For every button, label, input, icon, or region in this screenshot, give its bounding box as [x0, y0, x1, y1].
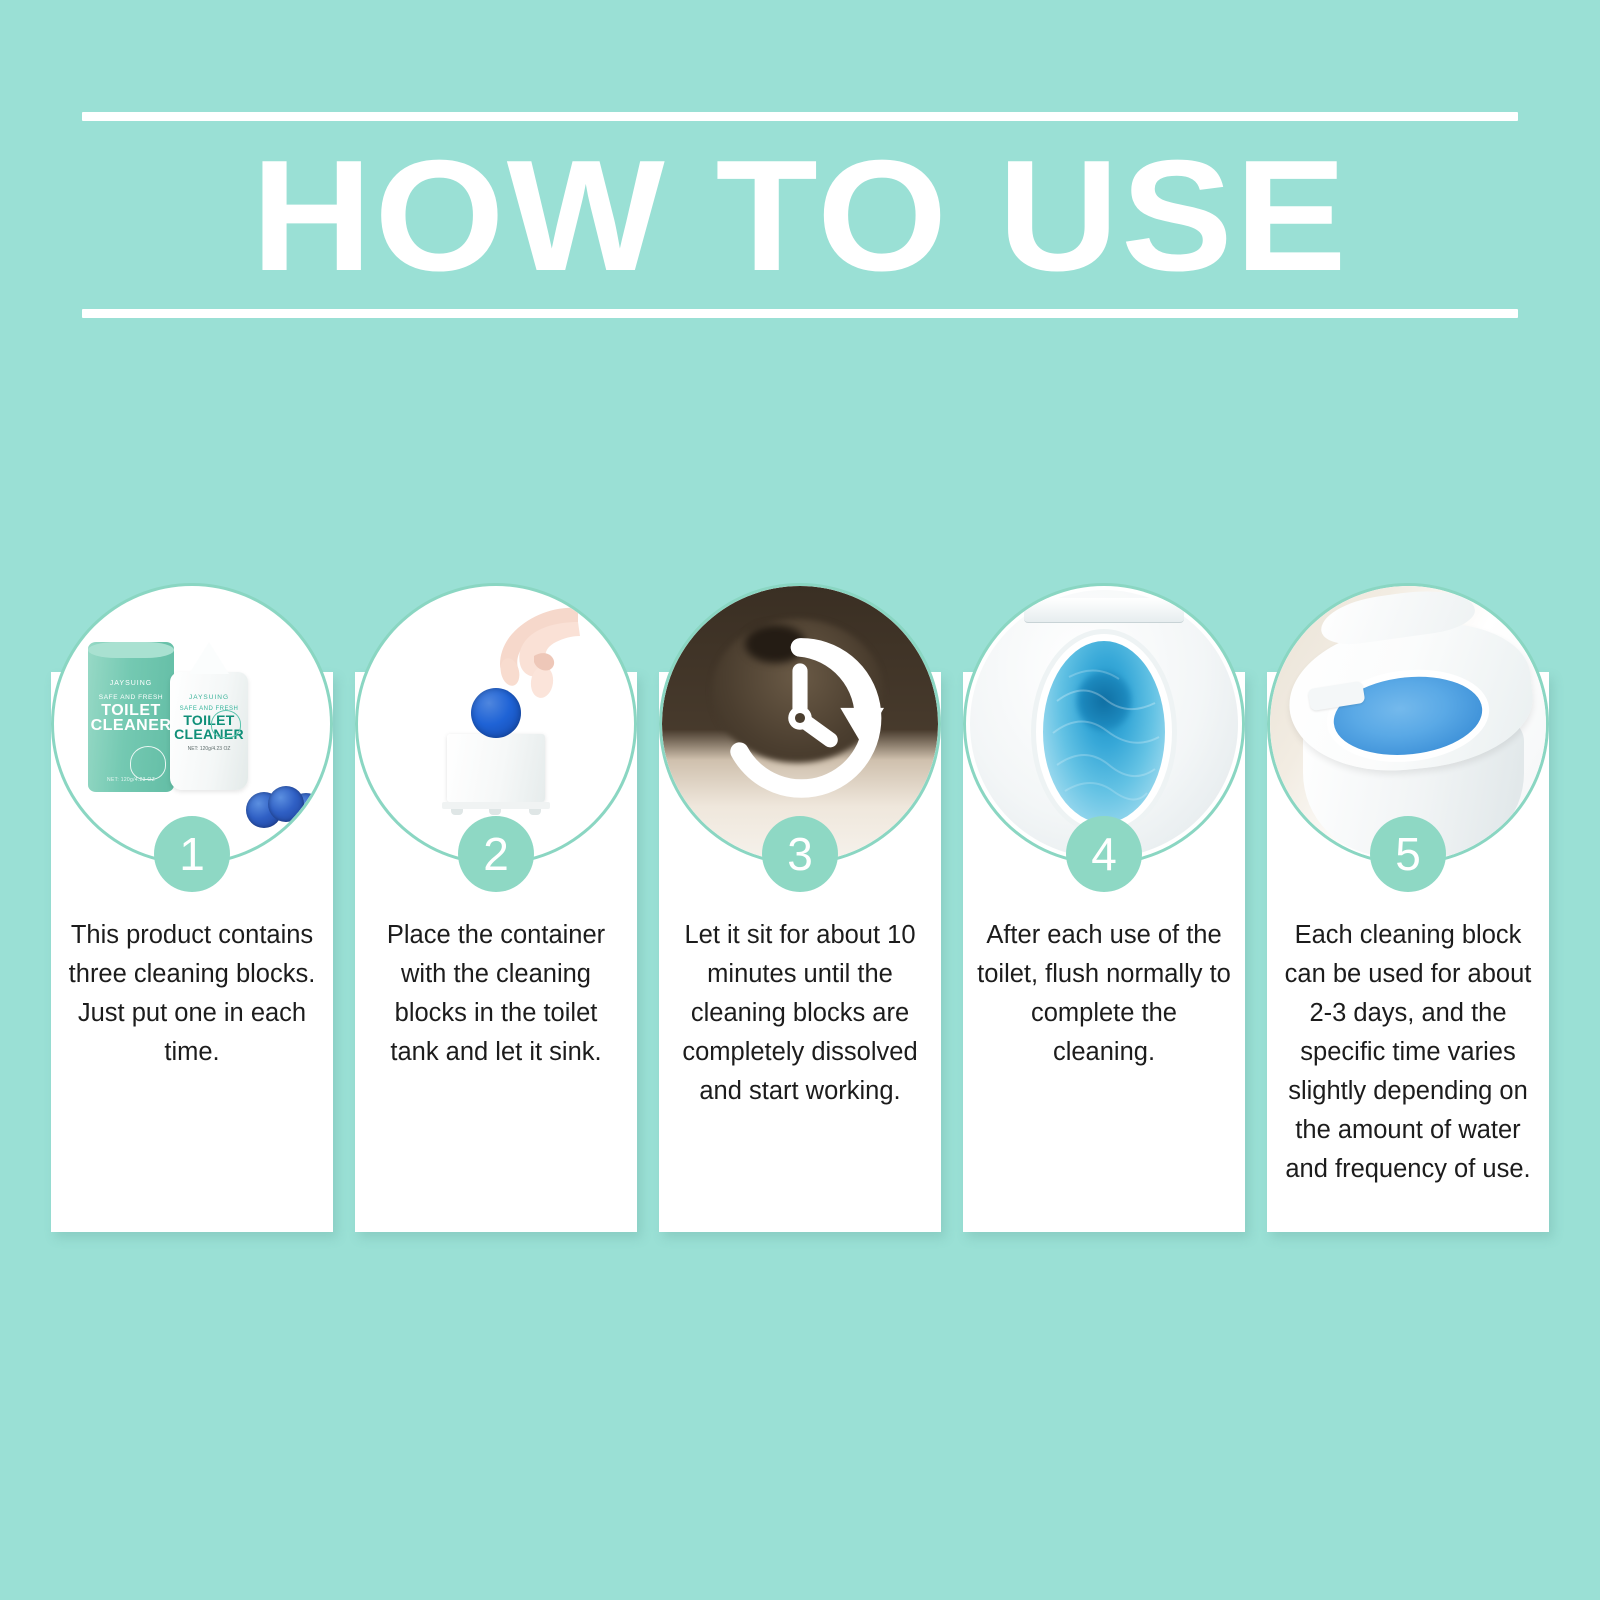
tube-toilet-illustration-icon — [130, 746, 166, 780]
container-feet — [445, 807, 547, 815]
step-card-1: JAYSUING SAFE AND FRESH TOILET CLEANER N… — [51, 586, 333, 1232]
step-number-badge-5: 5 — [1370, 816, 1446, 892]
bottle-toilet-illustration-icon — [211, 710, 241, 738]
step-caption-1: This product contains three cleaning blo… — [65, 916, 319, 1072]
step-card-2: 2 Place the container with the cleaning … — [355, 586, 637, 1232]
tube-tagline-text: SAFE AND FRESH — [88, 694, 174, 701]
step-card-3: 3 Let it sit for about 10 minutes until … — [659, 586, 941, 1232]
toilet-lid-edge — [1024, 598, 1185, 623]
hand-icon — [450, 604, 580, 724]
blue-cleaning-blocks — [246, 784, 322, 828]
bottle-net-weight-text: NET: 120g/4.23 OZ — [170, 746, 248, 752]
tube-title-line2: CLEANER — [91, 717, 172, 734]
steps-row: JAYSUING SAFE AND FRESH TOILET CLEANER N… — [51, 586, 1549, 1234]
product-tube: JAYSUING SAFE AND FRESH TOILET CLEANER N… — [88, 642, 174, 792]
step-caption-2: Place the container with the cleaning bl… — [369, 916, 623, 1072]
step-card-4: 4 After each use of the toilet, flush no… — [963, 586, 1245, 1232]
tube-net-weight-text: NET: 120g/4.23 OZ — [88, 777, 174, 783]
step-card-5: 5 Each cleaning block can be used for ab… — [1267, 586, 1549, 1232]
tube-brand-text: JAYSUING — [88, 680, 174, 687]
title-rule-top — [82, 112, 1518, 121]
title-rule-bottom — [82, 309, 1518, 318]
white-container — [447, 734, 545, 802]
step-number-badge-2: 2 — [458, 816, 534, 892]
blue-water-swirl — [1043, 641, 1165, 823]
step-caption-4: After each use of the toilet, flush norm… — [977, 916, 1231, 1072]
product-bottle: JAYSUING SAFE AND FRESH TOILET CLEANER N… — [170, 672, 248, 790]
step-caption-5: Each cleaning block can be used for abou… — [1281, 916, 1535, 1189]
water-ripple-icon — [1043, 641, 1165, 823]
step-number-badge-1: 1 — [154, 816, 230, 892]
page-header: HOW TO USE — [82, 112, 1518, 318]
bottle-brand-text: JAYSUING — [170, 694, 248, 701]
step-number-badge-3: 3 — [762, 816, 838, 892]
page-title: HOW TO USE — [39, 133, 1561, 299]
step-caption-3: Let it sit for about 10 minutes until th… — [673, 916, 927, 1111]
clock-timer-icon — [716, 634, 884, 802]
step-number-badge-4: 4 — [1066, 816, 1142, 892]
cleaning-block-icon — [268, 786, 304, 822]
